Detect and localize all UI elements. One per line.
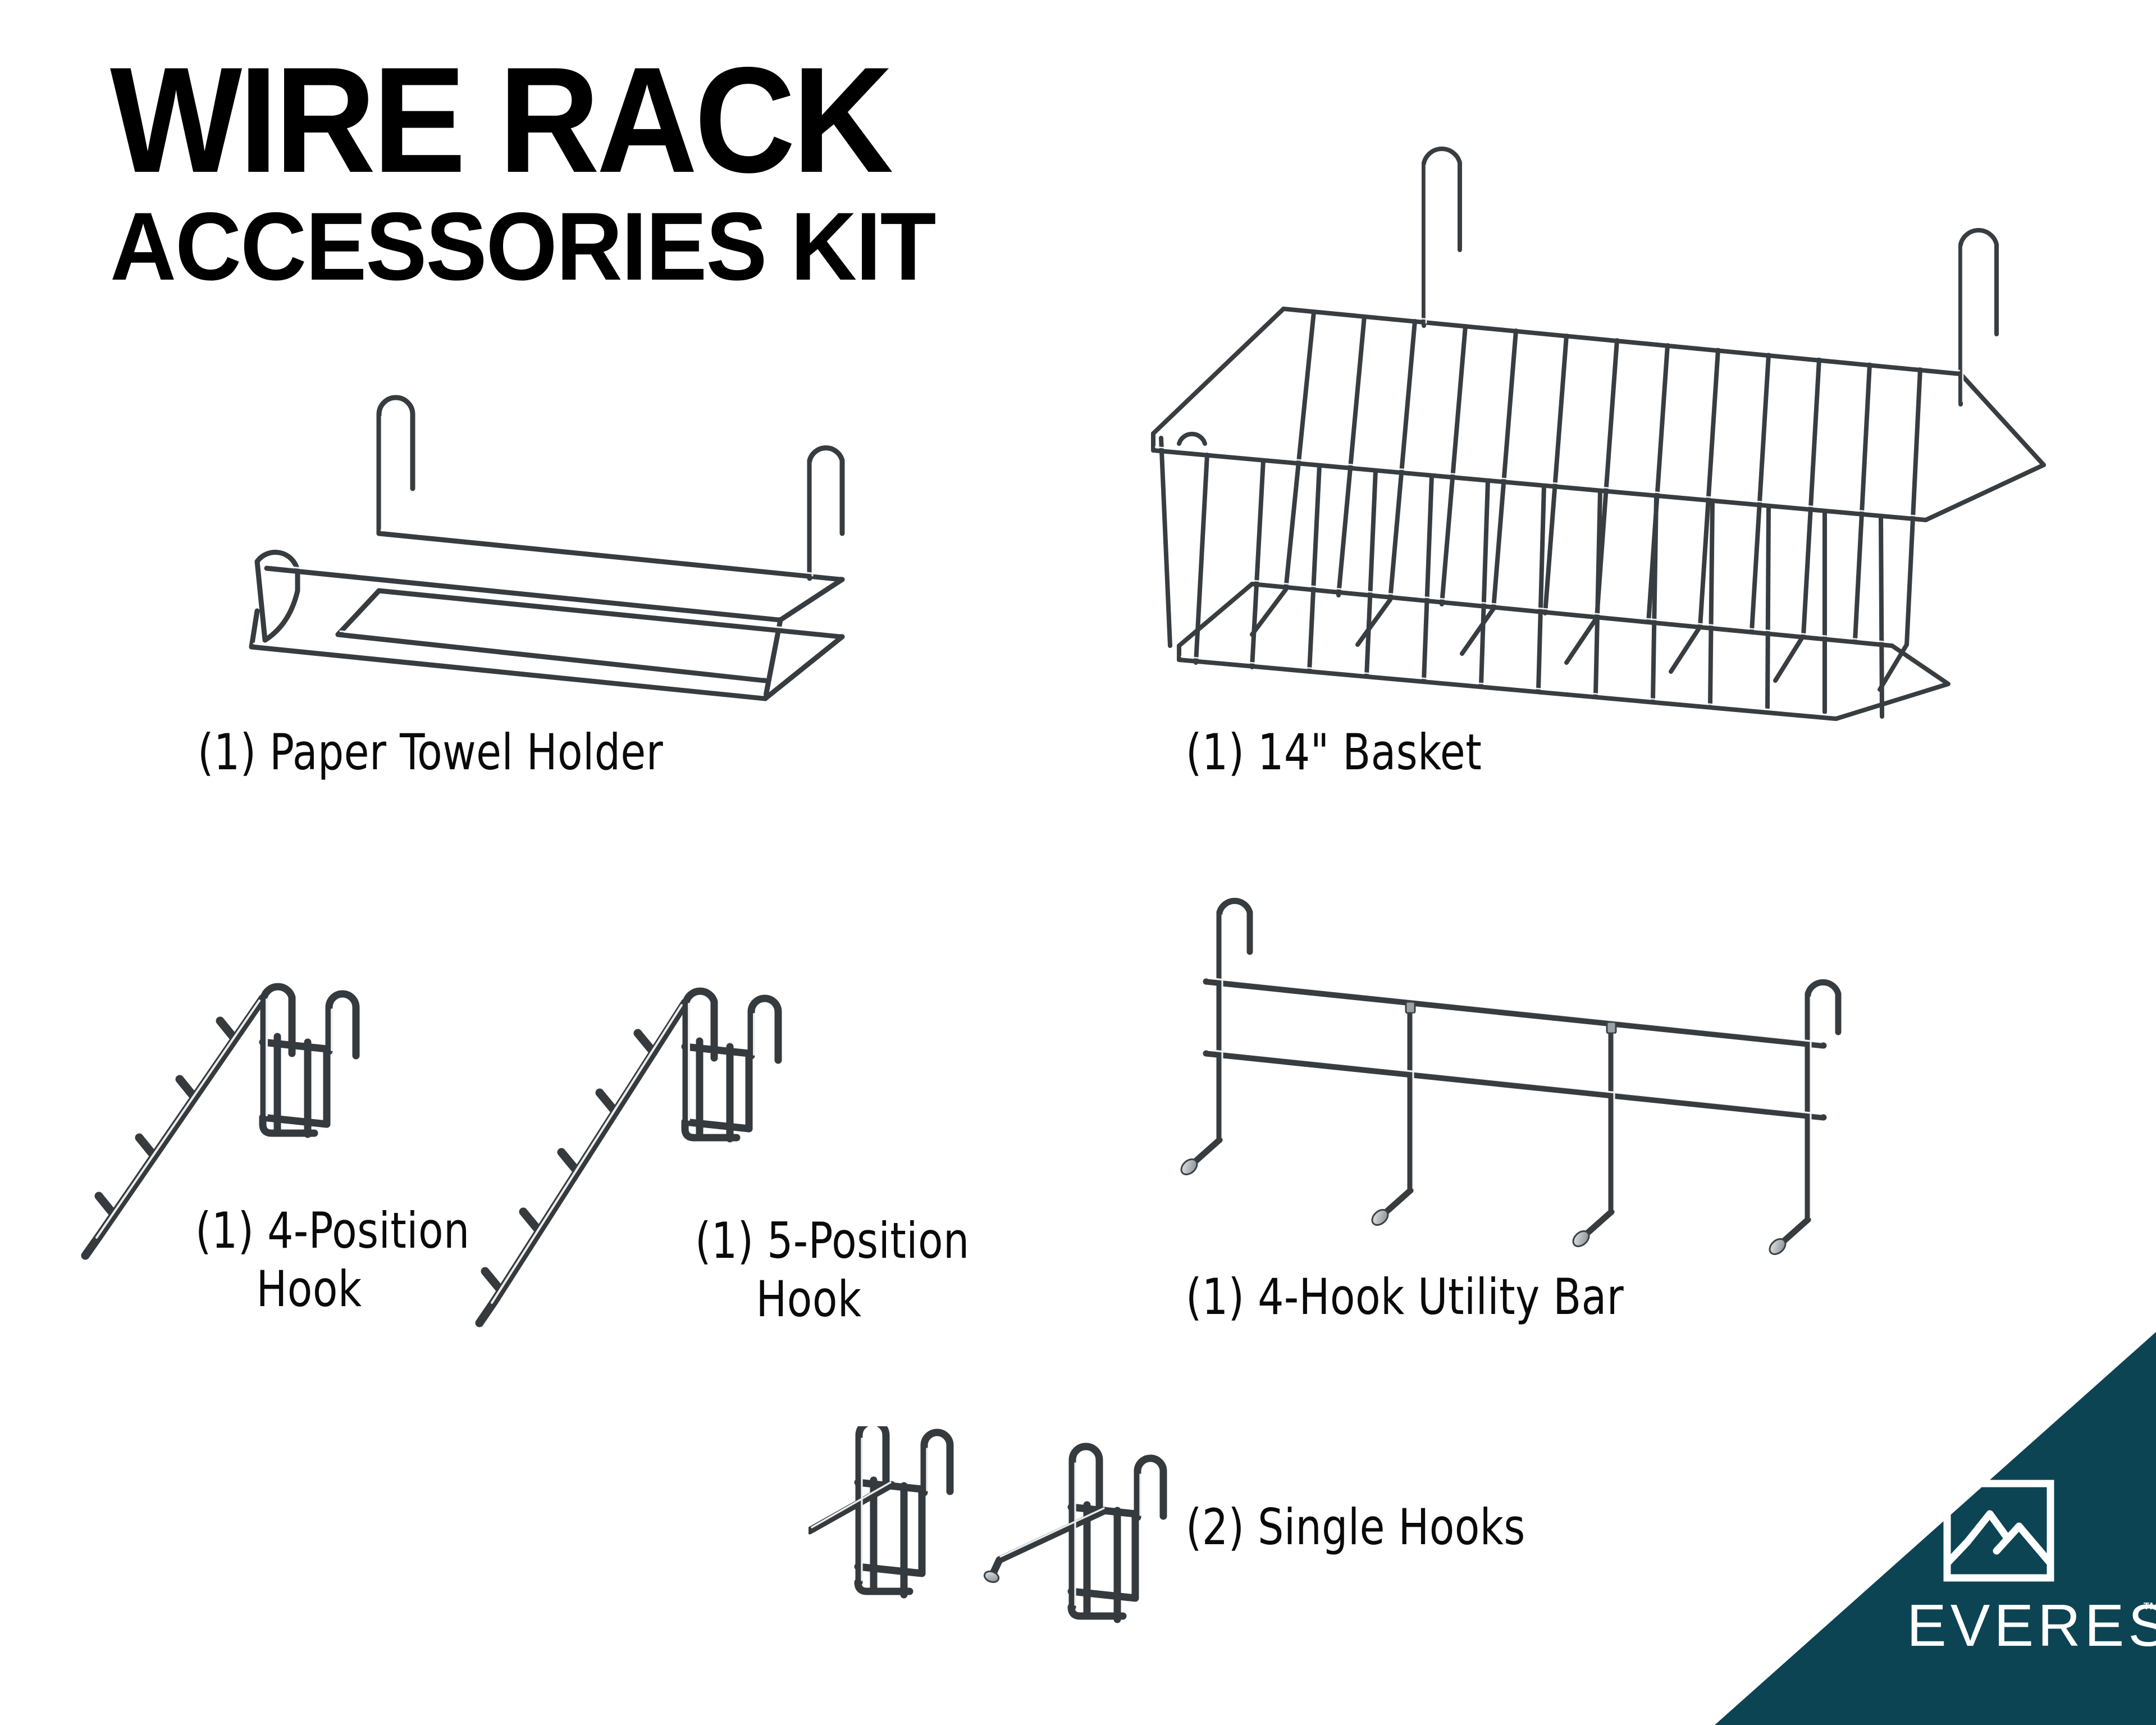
caption-paper-towel-holder: (1) Paper Towel Holder bbox=[198, 723, 663, 782]
mountain-in-frame-icon bbox=[1942, 1479, 2056, 1582]
everest-brand-badge: EVEREST ™ bbox=[1707, 1332, 2156, 1725]
everest-wordmark: EVEREST bbox=[1907, 1592, 2156, 1660]
caption-five-position-hook: (1) 5-PositionHook bbox=[695, 1212, 970, 1329]
paper-towel-holder-illustration bbox=[185, 393, 960, 708]
single-hooks-illustration bbox=[808, 1426, 1179, 1662]
infographic-canvas: WIRE RACK ACCESSORIES KIT bbox=[0, 0, 2156, 1725]
caption-four-position-hook: (1) 4-PositionHook bbox=[195, 1202, 470, 1318]
caption-line-2: Hook bbox=[195, 1260, 470, 1318]
basket-illustration bbox=[1145, 140, 2089, 736]
badge-triangle bbox=[1707, 1332, 2156, 1725]
caption-line-2: Hook bbox=[695, 1270, 970, 1329]
caption-basket: (1) 14" Basket bbox=[1186, 723, 1482, 782]
title-primary: WIRE RACK bbox=[110, 48, 1061, 191]
caption-utility-bar: (1) 4-Hook Utility Bar bbox=[1186, 1268, 1624, 1326]
caption-single-hooks: (2) Single Hooks bbox=[1186, 1498, 1525, 1557]
page-title: WIRE RACK ACCESSORIES KIT bbox=[110, 48, 1132, 295]
utility-bar-illustration bbox=[1157, 887, 1886, 1258]
title-secondary: ACCESSORIES KIT bbox=[110, 198, 1081, 295]
caption-line-1: (1) 5-Position bbox=[695, 1212, 970, 1270]
trademark-symbol: ™ bbox=[2142, 1599, 2156, 1619]
caption-line-1: (1) 4-Position bbox=[195, 1202, 470, 1259]
